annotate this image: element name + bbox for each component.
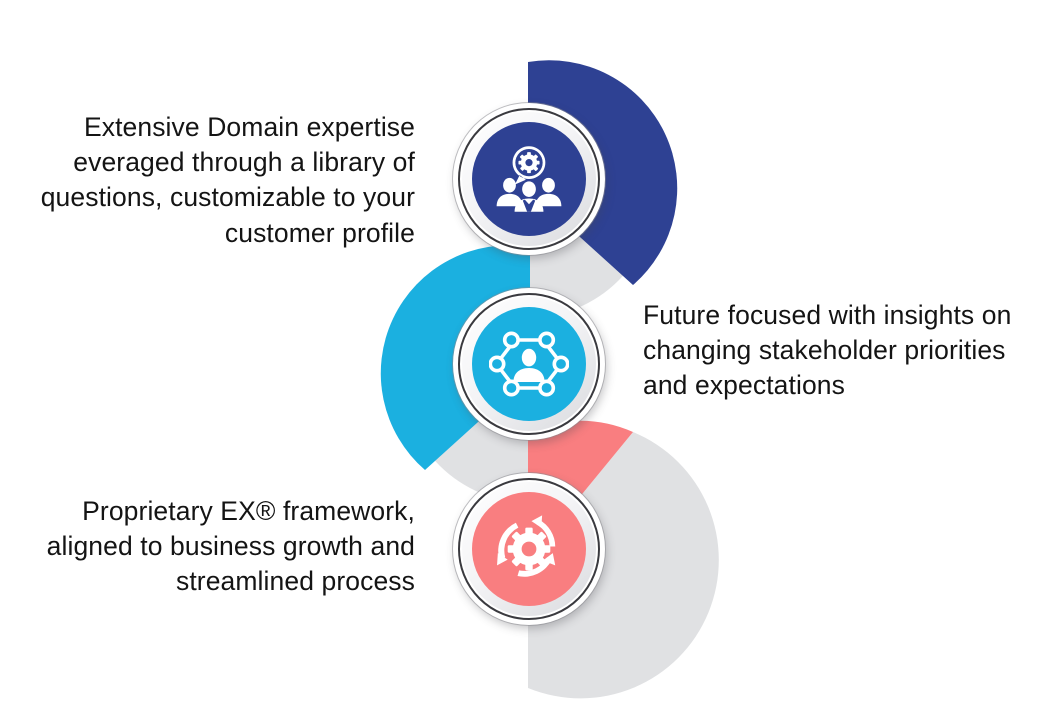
step-2-badge[interactable] xyxy=(453,288,605,440)
step-3-caption: Proprietary EX® framework, aligned to bu… xyxy=(25,494,415,600)
step-2-caption: Future focused with insights on changing… xyxy=(643,298,1043,404)
step-1-disc xyxy=(472,122,586,236)
step-1-badge[interactable] xyxy=(453,103,605,255)
step-3-badge[interactable] xyxy=(453,473,605,625)
infographic-container: Extensive Domain expertise everaged thro… xyxy=(0,0,1060,705)
step-3-disc xyxy=(472,492,586,606)
step-1-caption: Extensive Domain expertise everaged thro… xyxy=(25,110,415,251)
gear-process-cycle-icon xyxy=(488,508,570,590)
person-network-hexagon-icon xyxy=(489,324,569,404)
step-2-disc xyxy=(472,307,586,421)
team-gear-speech-bubble-icon xyxy=(490,140,568,218)
